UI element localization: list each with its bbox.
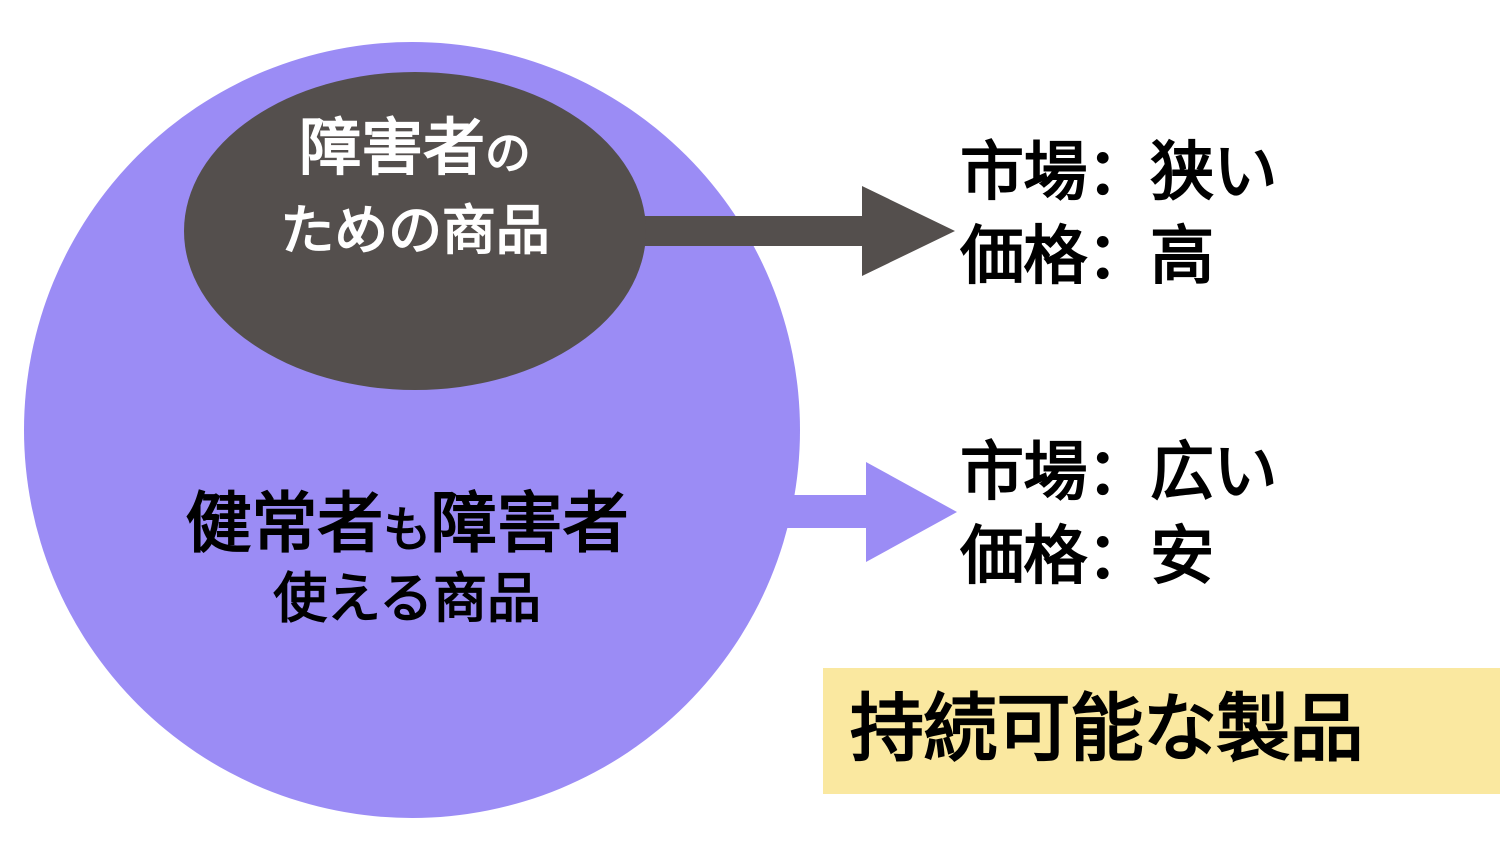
inner-ellipse-line-1-particle: の bbox=[485, 127, 531, 179]
outer-circle-line-1-b: 障害者 bbox=[431, 486, 629, 560]
outer-circle-line-1-a: 健常者 bbox=[186, 486, 384, 560]
outer-circle-line-1-particle: も bbox=[383, 504, 431, 557]
callout-bottom: 市場：広い 価格：安 bbox=[960, 440, 1277, 588]
callout-top-market: 市場：狭い bbox=[960, 140, 1277, 204]
inner-ellipse-label: 障害者の ための商品 bbox=[190, 118, 640, 258]
callout-bottom-market: 市場：広い bbox=[960, 440, 1277, 504]
diagram-canvas: 障害者の ための商品 健常者も障害者 使える商品 市場：狭い 価格：高 市場：広… bbox=[0, 0, 1500, 844]
callout-top: 市場：狭い 価格：高 bbox=[960, 140, 1277, 288]
outer-circle-line-1: 健常者も障害者 bbox=[92, 490, 722, 556]
inner-ellipse-line-1: 障害者の bbox=[190, 118, 640, 180]
inner-ellipse-line-1-main: 障害者 bbox=[299, 114, 485, 183]
highlight-label: 持続可能な製品 bbox=[850, 692, 1363, 766]
inner-ellipse-line-2: ための商品 bbox=[190, 204, 640, 258]
outer-circle-line-2: 使える商品 bbox=[92, 572, 722, 626]
callout-top-price: 価格：高 bbox=[960, 224, 1277, 288]
callout-bottom-price: 価格：安 bbox=[960, 524, 1277, 588]
outer-circle-label: 健常者も障害者 使える商品 bbox=[92, 490, 722, 626]
